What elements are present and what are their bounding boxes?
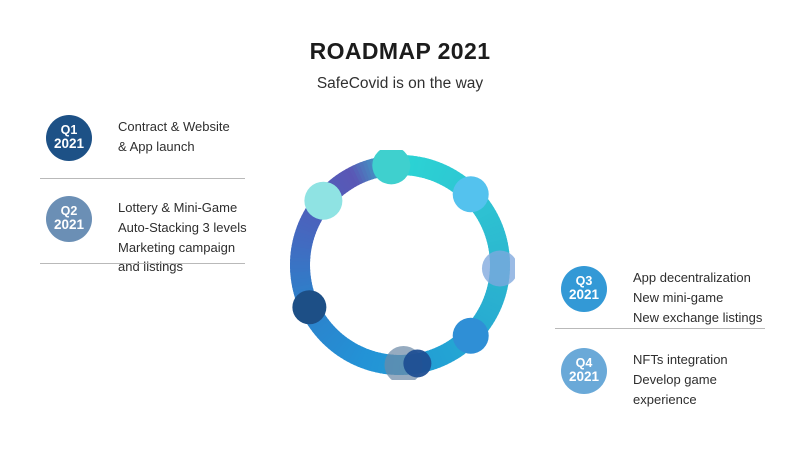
dot-lower-left-azure xyxy=(453,318,489,354)
dot-left-navy-inner xyxy=(403,349,431,377)
milestone-q1[interactable]: Q12021Contract & Website& App launch xyxy=(46,115,230,161)
milestone-item: Lottery & Mini-Game xyxy=(118,198,247,218)
dot-top-right-mint xyxy=(304,182,342,220)
milestone-item: New mini-game xyxy=(633,288,762,308)
milestone-item: NFTs integration xyxy=(633,350,728,370)
milestone-q3[interactable]: Q32021App decentralizationNew mini-gameN… xyxy=(561,266,762,327)
milestone-items-q1: Contract & Website& App launch xyxy=(118,115,230,157)
badge-q3: Q32021 xyxy=(561,266,607,312)
badge-year-label: 2021 xyxy=(569,370,599,385)
milestone-items-q3: App decentralizationNew mini-gameNew exc… xyxy=(633,266,762,327)
milestone-item: Marketing campaign xyxy=(118,238,247,258)
milestone-q2[interactable]: Q22021Lottery & Mini-GameAuto-Stacking 3… xyxy=(46,196,247,277)
badge-q4: Q42021 xyxy=(561,348,607,394)
milestone-item: Auto-Stacking 3 levels xyxy=(118,218,247,238)
milestone-items-q4: NFTs integrationDevelop gameexperience xyxy=(633,348,728,409)
milestone-items-q2: Lottery & Mini-GameAuto-Stacking 3 level… xyxy=(118,196,247,277)
dot-bottom-periwinkle xyxy=(482,250,515,286)
milestone-item: & App launch xyxy=(118,137,230,157)
page-subtitle: SafeCovid is on the way xyxy=(0,75,800,94)
badge-quarter-label: Q3 xyxy=(576,275,593,289)
milestone-item: Contract & Website xyxy=(118,117,230,137)
dot-right-teal xyxy=(372,150,410,184)
badge-quarter-label: Q4 xyxy=(576,357,593,371)
badge-year-label: 2021 xyxy=(54,137,84,152)
roadmap-ring xyxy=(285,150,515,380)
badge-year-label: 2021 xyxy=(569,288,599,303)
roadmap-infographic: ROADMAP 2021 SafeCovid is on the way Q12… xyxy=(0,0,800,449)
badge-quarter-label: Q2 xyxy=(61,205,78,219)
badge-q1: Q12021 xyxy=(46,115,92,161)
page-title: ROADMAP 2021 xyxy=(0,38,800,66)
badge-quarter-label: Q1 xyxy=(61,124,78,138)
divider-below-q1 xyxy=(40,178,245,179)
badge-q2: Q22021 xyxy=(46,196,92,242)
header: ROADMAP 2021 SafeCovid is on the way xyxy=(0,38,800,93)
dot-lower-right-sky xyxy=(453,176,489,212)
milestone-item: New exchange listings xyxy=(633,308,762,328)
divider-below-q2 xyxy=(40,263,245,264)
milestone-q4[interactable]: Q42021NFTs integrationDevelop gameexperi… xyxy=(561,348,728,409)
dot-top-left-navy xyxy=(292,290,326,324)
milestone-item: and listings xyxy=(118,257,247,277)
divider-below-q3 xyxy=(555,328,765,329)
milestone-item: experience xyxy=(633,390,728,410)
milestone-item: App decentralization xyxy=(633,268,762,288)
milestone-item: Develop game xyxy=(633,370,728,390)
badge-year-label: 2021 xyxy=(54,218,84,233)
